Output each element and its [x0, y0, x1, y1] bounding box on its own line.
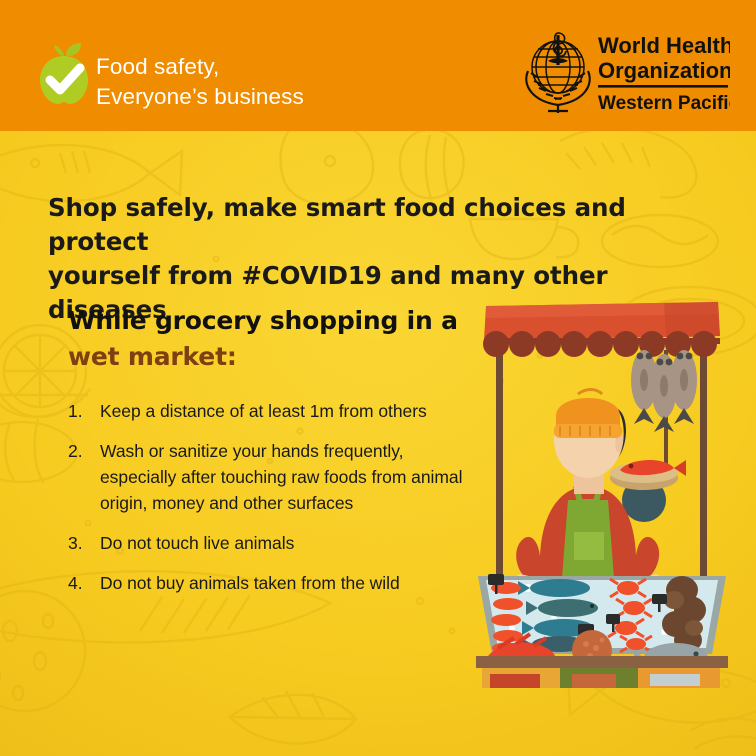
list-item-number: 2. — [68, 438, 100, 464]
list-item-text: Do not touch live animals — [100, 530, 473, 556]
list-item-number: 3. — [68, 530, 100, 556]
safety-tips-list: 1. Keep a distance of at least 1m from o… — [68, 398, 473, 610]
who-logo: World Health Organization Western Pacifi… — [518, 27, 730, 117]
green-apple-check-icon — [36, 42, 92, 106]
poster-root: Food safety, Everyone’s business World H… — [0, 0, 756, 756]
list-item-number: 4. — [68, 570, 100, 596]
list-item: 1. Keep a distance of at least 1m from o… — [68, 398, 473, 424]
list-item-number: 1. — [68, 398, 100, 424]
subheading-line-2: wet market: — [68, 339, 488, 375]
list-item: 4. Do not buy animals taken from the wil… — [68, 570, 473, 596]
poster-header: Food safety, Everyone’s business World H… — [0, 0, 756, 131]
list-item: 3. Do not touch live animals — [68, 530, 473, 556]
brand-tagline: Food safety, Everyone’s business — [96, 52, 304, 112]
wet-market-stall-illustration — [468, 288, 736, 688]
list-item: 2. Wash or sanitize your hands frequentl… — [68, 438, 473, 516]
who-title-line1: World Health — [598, 33, 730, 58]
who-title-line2: Organization — [598, 58, 730, 83]
who-region: Western Pacific Region — [598, 93, 730, 114]
list-item-text: Do not buy animals taken from the wild — [100, 570, 473, 596]
list-item-text: Wash or sanitize your hands frequently, … — [100, 438, 473, 516]
subheading-line-1: While grocery shopping in a — [68, 303, 488, 339]
section-subheading: While grocery shopping in a wet market: — [68, 303, 488, 375]
hanging-dried-fish — [631, 350, 697, 480]
list-item-text: Keep a distance of at least 1m from othe… — [100, 398, 473, 424]
